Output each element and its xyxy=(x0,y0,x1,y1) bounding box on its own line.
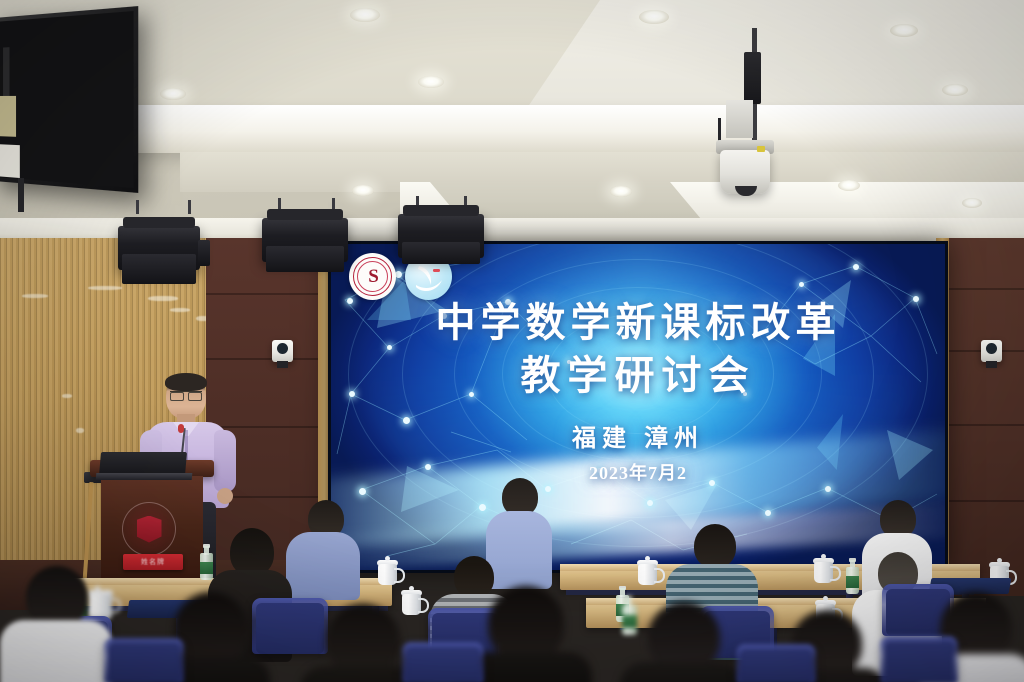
screen-node-dot xyxy=(469,392,474,397)
ceiling-downlight xyxy=(962,198,982,208)
wall-mounted-monitor xyxy=(0,6,138,193)
ceiling-downlight xyxy=(942,84,968,96)
monitor-attached-box xyxy=(0,96,16,137)
cup-knob xyxy=(409,586,414,591)
cup-knob xyxy=(645,556,650,561)
cup-knob xyxy=(385,556,390,561)
screen-node-dot xyxy=(743,392,747,396)
seated-attendee xyxy=(620,602,744,682)
camera-lens-icon xyxy=(986,343,997,354)
monitor-ceiling-stem xyxy=(18,178,24,212)
spotlight-hanger xyxy=(188,200,191,214)
attendee-head xyxy=(694,524,736,568)
screen-node-dot xyxy=(349,391,355,397)
screen-node-dot xyxy=(825,486,831,492)
water-bottle xyxy=(846,560,859,594)
screen-node-dot xyxy=(853,264,859,270)
screen-node-dot xyxy=(913,296,919,302)
seated-attendee xyxy=(286,500,360,596)
camera-bracket xyxy=(277,361,288,368)
spotlight-top-bar xyxy=(403,205,479,216)
attendee-torso xyxy=(0,620,112,682)
presenter-right-arm xyxy=(214,430,236,492)
attendee-torso xyxy=(286,532,360,600)
spotlight-side-flap xyxy=(198,240,210,266)
stage-spotlight-lower xyxy=(402,242,480,264)
stage-spotlight-lower xyxy=(266,246,344,272)
attendee-head xyxy=(488,586,564,662)
screen-node-dot xyxy=(359,488,366,495)
audience-chair xyxy=(402,642,484,682)
screen-node-dot xyxy=(403,417,410,424)
lidded-tea-cup xyxy=(812,556,836,583)
led-screen-surface: S ® 中学数学新课标改革 教学研讨会 福建 漳州 2023年7月2 xyxy=(331,244,945,570)
lidded-tea-cup xyxy=(376,558,400,585)
chair-back-inner xyxy=(740,649,812,682)
bottle-label xyxy=(200,562,213,574)
emblem-crest-icon xyxy=(137,516,162,543)
ceiling-downlight xyxy=(838,180,860,191)
lidded-tea-cup xyxy=(636,558,660,585)
projector-pole-clamp xyxy=(744,52,761,104)
screen-node-dot xyxy=(479,504,486,511)
presenter-hair xyxy=(165,373,207,391)
conference-hall-photo: S ® 中学数学新课标改革 教学研讨会 福建 漳州 2023年7月2 xyxy=(0,0,1024,682)
screen-node-dot xyxy=(709,480,715,486)
ceiling-light-cove-1 xyxy=(120,105,1024,153)
nameplate-text: 姓名牌 xyxy=(141,557,165,567)
spotlight-top-bar xyxy=(123,217,195,228)
camera-bracket xyxy=(986,361,997,368)
chair-back-inner xyxy=(406,647,480,682)
attendee-head xyxy=(26,566,88,628)
microphone-head-icon xyxy=(178,424,184,433)
screen-node-dot xyxy=(765,510,771,516)
monitor-hanging-tag xyxy=(0,144,20,178)
screen-node-dot xyxy=(597,468,602,473)
ceiling-downlight xyxy=(610,186,632,197)
attendee-head xyxy=(230,528,274,576)
ceiling-downlight xyxy=(352,185,374,196)
audience-chair xyxy=(736,644,816,682)
seal-monogram: S xyxy=(368,267,377,286)
screen-node-dot xyxy=(567,360,571,364)
dark-brown-wall-panel-right xyxy=(946,238,1024,596)
screen-node-dot xyxy=(683,336,687,340)
cup-knob xyxy=(823,596,828,601)
presenter-glasses xyxy=(170,391,202,399)
screen-node-dot xyxy=(505,299,511,305)
stage-spotlight-lower xyxy=(122,254,196,284)
podium-nameplate: 姓名牌 xyxy=(123,554,183,570)
attendee-head xyxy=(174,592,248,666)
stage-led-screen: S ® 中学数学新课标改革 教学研讨会 福建 漳州 2023年7月2 xyxy=(328,241,948,573)
camera-lens-icon xyxy=(277,343,288,354)
screen-node-dot xyxy=(387,345,392,350)
audience-chair xyxy=(104,638,184,682)
ceiling-downlight xyxy=(639,10,669,24)
podium-school-emblem xyxy=(122,502,176,556)
seated-attendee xyxy=(0,566,112,682)
screen-node-dot xyxy=(425,464,431,470)
audience-chair xyxy=(880,636,958,682)
cup-knob xyxy=(997,558,1002,563)
ceiling-downlight xyxy=(890,24,918,37)
presenter-hand xyxy=(217,488,233,504)
cup-handle xyxy=(394,568,405,583)
bottle-label xyxy=(846,576,859,588)
projector-indicator-light xyxy=(757,146,765,152)
screen-node-dot xyxy=(647,500,653,506)
cup-knob xyxy=(821,554,826,559)
screen-node-dot xyxy=(799,282,804,287)
school-seal-logo: S xyxy=(349,253,396,300)
ceiling-downlight xyxy=(350,8,380,22)
ceiling-downlight xyxy=(160,88,186,100)
ceiling-downlight xyxy=(418,76,444,88)
chair-back-inner xyxy=(108,643,180,682)
spotlight-hanger xyxy=(136,200,139,214)
water-bottle xyxy=(200,546,213,580)
wall-camera xyxy=(272,340,293,362)
wall-camera xyxy=(981,340,1002,362)
spotlight-top-bar xyxy=(267,209,343,220)
chair-back-inner xyxy=(884,641,954,682)
monitor-screen xyxy=(0,11,134,188)
attendee-torso xyxy=(620,662,744,682)
screen-node-dot xyxy=(441,313,447,319)
laptop-base xyxy=(96,473,193,480)
